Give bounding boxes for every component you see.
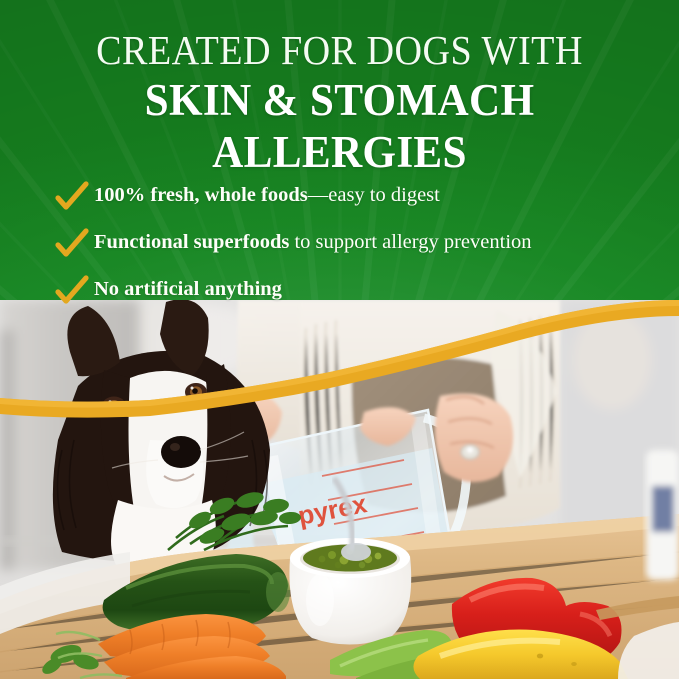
list-item-text: 100% fresh, whole foods—easy to digest bbox=[94, 182, 440, 208]
list-item-text: Functional superfoods to support allergy… bbox=[94, 229, 532, 255]
list-item: Functional superfoods to support allergy… bbox=[52, 229, 662, 259]
headline-line-2: SKIN & STOMACH ALLERGIES bbox=[14, 74, 666, 178]
check-icon bbox=[52, 228, 94, 258]
list-item-regular: to support allergy prevention bbox=[289, 231, 531, 253]
product-banner: pyrex bbox=[0, 0, 679, 679]
list-item-regular: —easy to digest bbox=[308, 184, 440, 206]
headline-block: CREATED FOR DOGS WITH SKIN & STOMACH ALL… bbox=[0, 26, 679, 178]
list-item-bold: Functional superfoods bbox=[94, 231, 289, 253]
list-item-bold: 100% fresh, whole foods bbox=[94, 184, 308, 206]
background-bottle bbox=[646, 450, 679, 580]
list-item: 100% fresh, whole foods—easy to digest bbox=[52, 182, 662, 212]
gold-wave-divider bbox=[0, 266, 679, 436]
headline-line-1: CREATED FOR DOGS WITH bbox=[24, 26, 655, 74]
check-icon bbox=[52, 181, 94, 211]
